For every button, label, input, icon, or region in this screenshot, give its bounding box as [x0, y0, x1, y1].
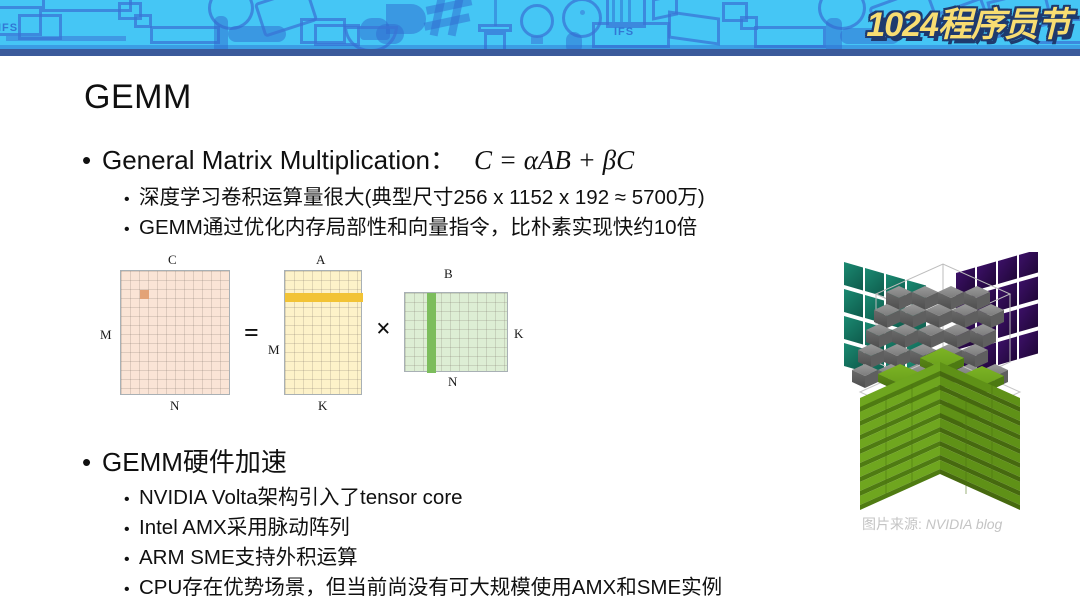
gemm-matrix-diagram: C M N = A M K × B K N	[96, 252, 556, 412]
bullet-marker: •	[82, 145, 102, 176]
banner-art-wing	[668, 10, 720, 45]
banner-art-monitor	[18, 14, 62, 40]
bullet-text: GEMM硬件加速	[102, 447, 287, 477]
banner-art-tower-l2	[620, 0, 623, 22]
matrix-a-grid	[285, 271, 361, 394]
banner-art-tower-l3	[628, 0, 631, 22]
banner-art-bulb-base	[531, 36, 543, 44]
banner-art-plinth	[478, 24, 512, 32]
banner-building-sign-2: IFS	[0, 22, 18, 34]
bullet-marker: •	[124, 581, 139, 599]
matrix-c-grid	[121, 271, 229, 394]
banner-building-sign-1: IFS	[614, 26, 634, 38]
bullet-marker: •	[124, 221, 139, 239]
matrix-b-col-highlight	[427, 293, 436, 373]
bullet-marker: •	[124, 551, 139, 569]
bullet-conv-compute-volume: •深度学习卷积运算量很大(典型尺寸256 x 1152 x 192 ≈ 5700…	[124, 180, 705, 210]
gemm-formula: C = αAB + βC	[456, 145, 634, 175]
matrix-a-bottom-label: K	[318, 398, 327, 414]
banner-art-hash-h1	[426, 0, 473, 15]
bullet-general-matrix-multiplication: •General Matrix Multiplication：C = αAB +…	[82, 140, 634, 177]
bullet-text: GEMM通过优化内存局部性和向量指令，比朴素实现快约10倍	[139, 216, 697, 239]
caption-source: NVIDIA blog	[926, 516, 1003, 532]
bullet-text: Intel AMX采用脉动阵列	[139, 516, 350, 539]
bullet-text: General Matrix Multiplication：	[102, 145, 456, 175]
matrix-c-left-label: M	[100, 327, 112, 343]
bullet-marker: •	[124, 191, 139, 209]
banner-art-spire	[494, 0, 497, 26]
bullet-gemm-hardware-acceleration: •GEMM硬件加速	[82, 442, 287, 479]
tensor-core-illustration	[838, 252, 1048, 512]
banner-base-bar	[0, 49, 1080, 56]
page-title: GEMM	[84, 78, 192, 117]
matrix-b-bottom-label: N	[448, 374, 457, 390]
bullet-text: CPU存在优势场景，但当前尚没有可大规模使用AMX和SME实例	[139, 576, 722, 599]
bullet-marker: •	[124, 491, 139, 509]
matrix-b-grid	[405, 293, 507, 371]
slide-body: GEMM •General Matrix Multiplication：C = …	[0, 56, 1080, 608]
bullet-nvidia-volta: •NVIDIA Volta架构引入了tensor core	[124, 480, 463, 510]
banner-art-eye	[580, 10, 585, 15]
bullet-cpu-advantage: •CPU存在优势场景，但当前尚没有可大规模使用AMX和SME实例	[124, 570, 722, 600]
tensor-core-svg	[838, 252, 1048, 512]
green-slabs-right	[940, 362, 1020, 510]
bullet-text: ARM SME支持外积运算	[139, 546, 358, 569]
banner-art-bulb	[520, 4, 554, 38]
matrix-b	[404, 292, 508, 372]
bullet-marker: •	[82, 447, 102, 478]
matrix-a-row-highlight	[285, 293, 363, 302]
matrix-a-top-label: A	[316, 252, 325, 268]
image-source-caption: 图片来源: NVIDIA blog	[862, 514, 1002, 534]
operator-equals: =	[244, 318, 259, 348]
matrix-b-right-label: K	[514, 326, 523, 342]
banner-art-tower-l1	[612, 0, 615, 22]
festival-logo: 1024程序员节	[866, 2, 1070, 48]
bullet-gemm-optimization: •GEMM通过优化内存局部性和向量指令，比朴素实现快约10倍	[124, 210, 697, 240]
operator-multiply: ×	[376, 314, 391, 344]
matrix-b-top-label: B	[444, 266, 453, 282]
matrix-c-bottom-label: N	[170, 398, 179, 414]
bullet-text: 深度学习卷积运算量很大(典型尺寸256 x 1152 x 192 ≈ 5700万…	[139, 186, 705, 209]
matrix-c	[120, 270, 230, 395]
caption-prefix: 图片来源:	[862, 516, 926, 532]
matrix-a	[284, 270, 362, 395]
matrix-c-cell-highlight	[140, 290, 149, 299]
bullet-intel-amx: •Intel AMX采用脉动阵列	[124, 510, 350, 540]
bullet-arm-sme: •ARM SME支持外积运算	[124, 540, 358, 570]
banner-art-block	[150, 26, 220, 44]
matrix-c-top-label: C	[168, 252, 177, 268]
matrix-a-left-label: M	[268, 342, 280, 358]
bullet-marker: •	[124, 521, 139, 539]
festival-banner: IFS IFS 1024程序员节	[0, 0, 1080, 56]
bullet-text: NVIDIA Volta架构引入了tensor core	[139, 486, 463, 509]
